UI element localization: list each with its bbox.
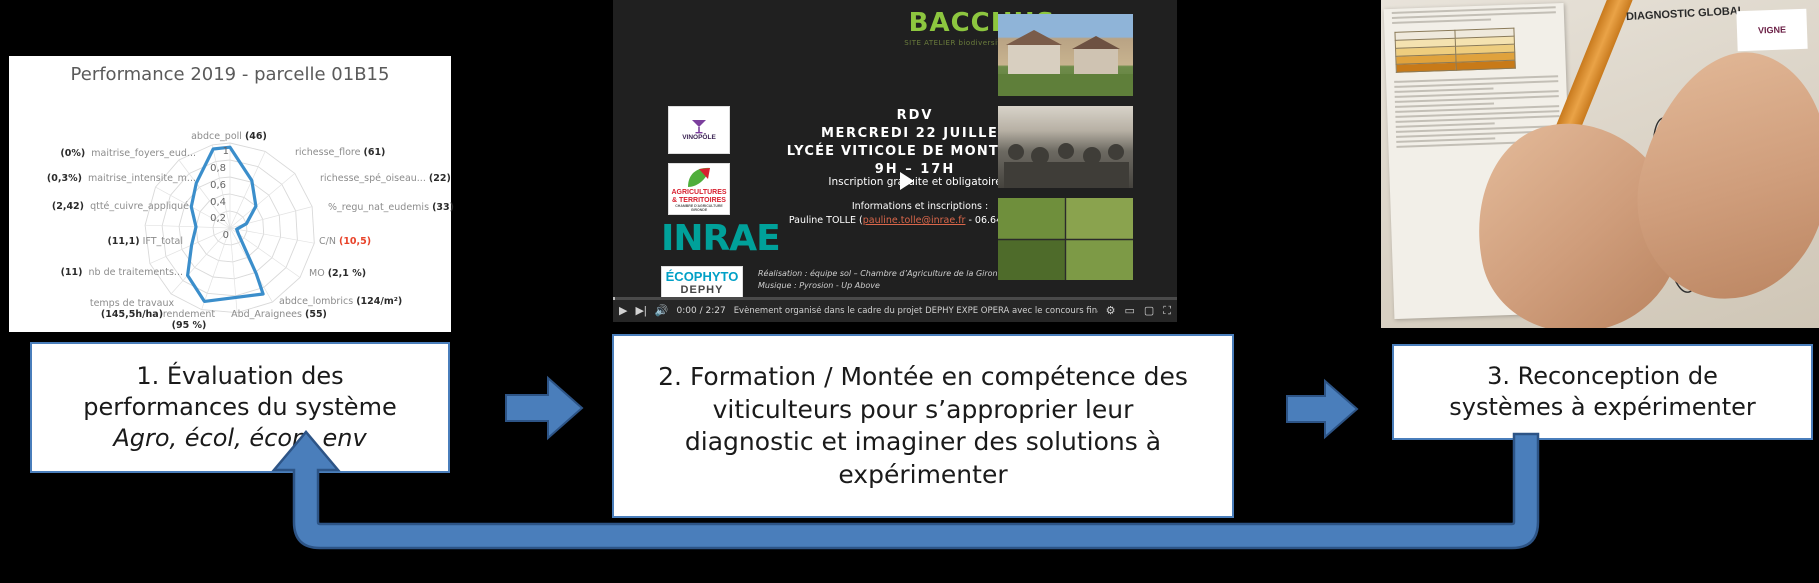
- radar-label-maitrise-foyers: (0%) maitrise_foyers_eud...: [31, 149, 196, 160]
- radar-chart-panel: Performance 2019 - parcelle 01B15: [9, 56, 451, 332]
- step-3-line-1: 3. Reconception de: [1449, 361, 1755, 392]
- radar-label-ift-total: (11,1) IFT_total: [23, 237, 183, 248]
- workshop-photo-panel: DIAGNOSTIC GLOBAL VIGNE: [1381, 0, 1819, 328]
- volume-icon[interactable]: 🔊: [655, 306, 669, 317]
- video-poster[interactable]: BACCHUS SITE ATELIER biodiversité et vit…: [613, 0, 1177, 322]
- poster-photo-vineyard-grid: [998, 198, 1133, 280]
- video-player-panel[interactable]: BACCHUS SITE ATELIER biodiversité et vit…: [613, 0, 1177, 322]
- poster-photo-building: [998, 14, 1133, 96]
- video-progress-fill: [613, 297, 615, 300]
- logo-ecophyto-l2: DEPHY: [681, 284, 724, 296]
- radar-tick-0: 0: [205, 230, 229, 241]
- radar-tick-0-2: 0,2: [202, 213, 226, 224]
- radar-plot: 1 0,8 0,6 0,4 0,2 0 abdce_poll (46) rich…: [9, 56, 451, 332]
- settings-gear-icon[interactable]: ⚙: [1106, 306, 1116, 317]
- photo-label-vigne: VIGNE: [1736, 9, 1807, 51]
- leaf-arrow-icon: [684, 165, 714, 189]
- video-control-bar[interactable]: ▶ ▶| 🔊 0:00 / 2:27 Evènement organisé da…: [613, 300, 1177, 322]
- step-1-line-2: performances du système: [83, 392, 396, 423]
- audience-photo-shapes: [998, 106, 1133, 188]
- logo-agri-l1: AGRICULTURES: [671, 189, 726, 197]
- radar-tick-0-4: 0,4: [202, 197, 226, 208]
- logo-agricultures-territoires: AGRICULTURES & TERRITOIRES CHAMBRE D'AGR…: [668, 163, 730, 215]
- fullscreen-icon[interactable]: ⛶: [1163, 306, 1171, 317]
- miniplayer-icon[interactable]: ▭: [1124, 306, 1134, 317]
- building-photo-shapes: [998, 14, 1133, 96]
- vineyard-grid-shapes: [998, 198, 1133, 280]
- poster-photo-strip: [998, 14, 1133, 284]
- logo-agri-l3: CHAMBRE D'AGRICULTURE GIRONDE: [669, 205, 729, 213]
- logo-ecophyto-dephy: ÉCOPHYTO DEPHY: [661, 266, 743, 300]
- radar-tick-0-8: 0,8: [202, 163, 226, 174]
- step-2-line-2: viticulteurs pour s’approprier leur: [658, 394, 1188, 427]
- grape-glass-icon: [690, 118, 708, 134]
- radar-label-regu-nat-eudemis: %_regu_nat_eudemis (33): [328, 203, 454, 214]
- diagram-canvas: Performance 2019 - parcelle 01B15: [0, 0, 1819, 583]
- radar-label-abdce-lombrics: abdce_lombrics (124/m²): [279, 297, 402, 308]
- player-right-controls: ⚙ ▭ ▢ ⛶: [1106, 306, 1171, 317]
- logo-ecophyto-l1: ÉCOPHYTO: [666, 270, 739, 284]
- video-caption-text: Evènement organisé dans le cadre du proj…: [734, 306, 1098, 316]
- radar-label-maitrise-intensite: (0,3%) maitrise_intensite_m...: [1, 174, 196, 185]
- step-2-line-1: 2. Formation / Montée en compétence des: [658, 361, 1188, 394]
- radar-label-abdce-poll: abdce_poll (46): [169, 132, 289, 143]
- radar-label-nb-traitements: (11) nb de traitements...: [23, 268, 183, 279]
- theater-mode-icon[interactable]: ▢: [1144, 306, 1154, 317]
- radar-tick-1: 1: [205, 146, 229, 157]
- radar-label-mo: MO (2,1 %): [309, 269, 366, 280]
- logo-inrae: INRAE: [661, 218, 780, 259]
- video-time-display: 0:00 / 2:27: [677, 306, 726, 316]
- step-3-line-2: systèmes à expérimenter: [1449, 392, 1755, 423]
- radar-label-richesse-spe-oiseau: richesse_spé_oiseau... (22): [320, 174, 451, 185]
- feedback-loop-arrow: [240, 430, 1570, 580]
- photo-document-table: [1394, 28, 1515, 73]
- radar-label-qtte-cuivre: (2,42) qtté_cuivre_appliqué: [0, 202, 189, 213]
- poster-photo-audience: [998, 106, 1133, 188]
- step-1-line-1: 1. Évaluation des: [83, 361, 396, 392]
- radar-label-temps-de-travaux: temps de travaux(145,5h/ha): [77, 299, 187, 321]
- contact-email-link[interactable]: pauline.tolle@inrae.fr: [863, 215, 966, 226]
- next-track-icon[interactable]: ▶|: [635, 306, 646, 317]
- radar-svg: [9, 56, 451, 332]
- logo-vinopole-label: VINOPÔLE: [682, 134, 716, 141]
- radar-tick-0-6: 0,6: [202, 180, 226, 191]
- video-progress-bar[interactable]: [613, 297, 1177, 300]
- contact-prefix: Pauline TOLLE (: [789, 215, 863, 226]
- step-3-text: 3. Reconception de systèmes à expériment…: [1439, 361, 1765, 422]
- radar-label-cn: C/N (10,5): [319, 237, 371, 248]
- step-3-box[interactable]: 3. Reconception de systèmes à expériment…: [1392, 344, 1813, 440]
- play-icon[interactable]: ▶: [619, 306, 627, 317]
- logo-vinopole: VINOPÔLE: [668, 106, 730, 154]
- radar-label-richesse-flore: richesse_flore (61): [295, 148, 385, 159]
